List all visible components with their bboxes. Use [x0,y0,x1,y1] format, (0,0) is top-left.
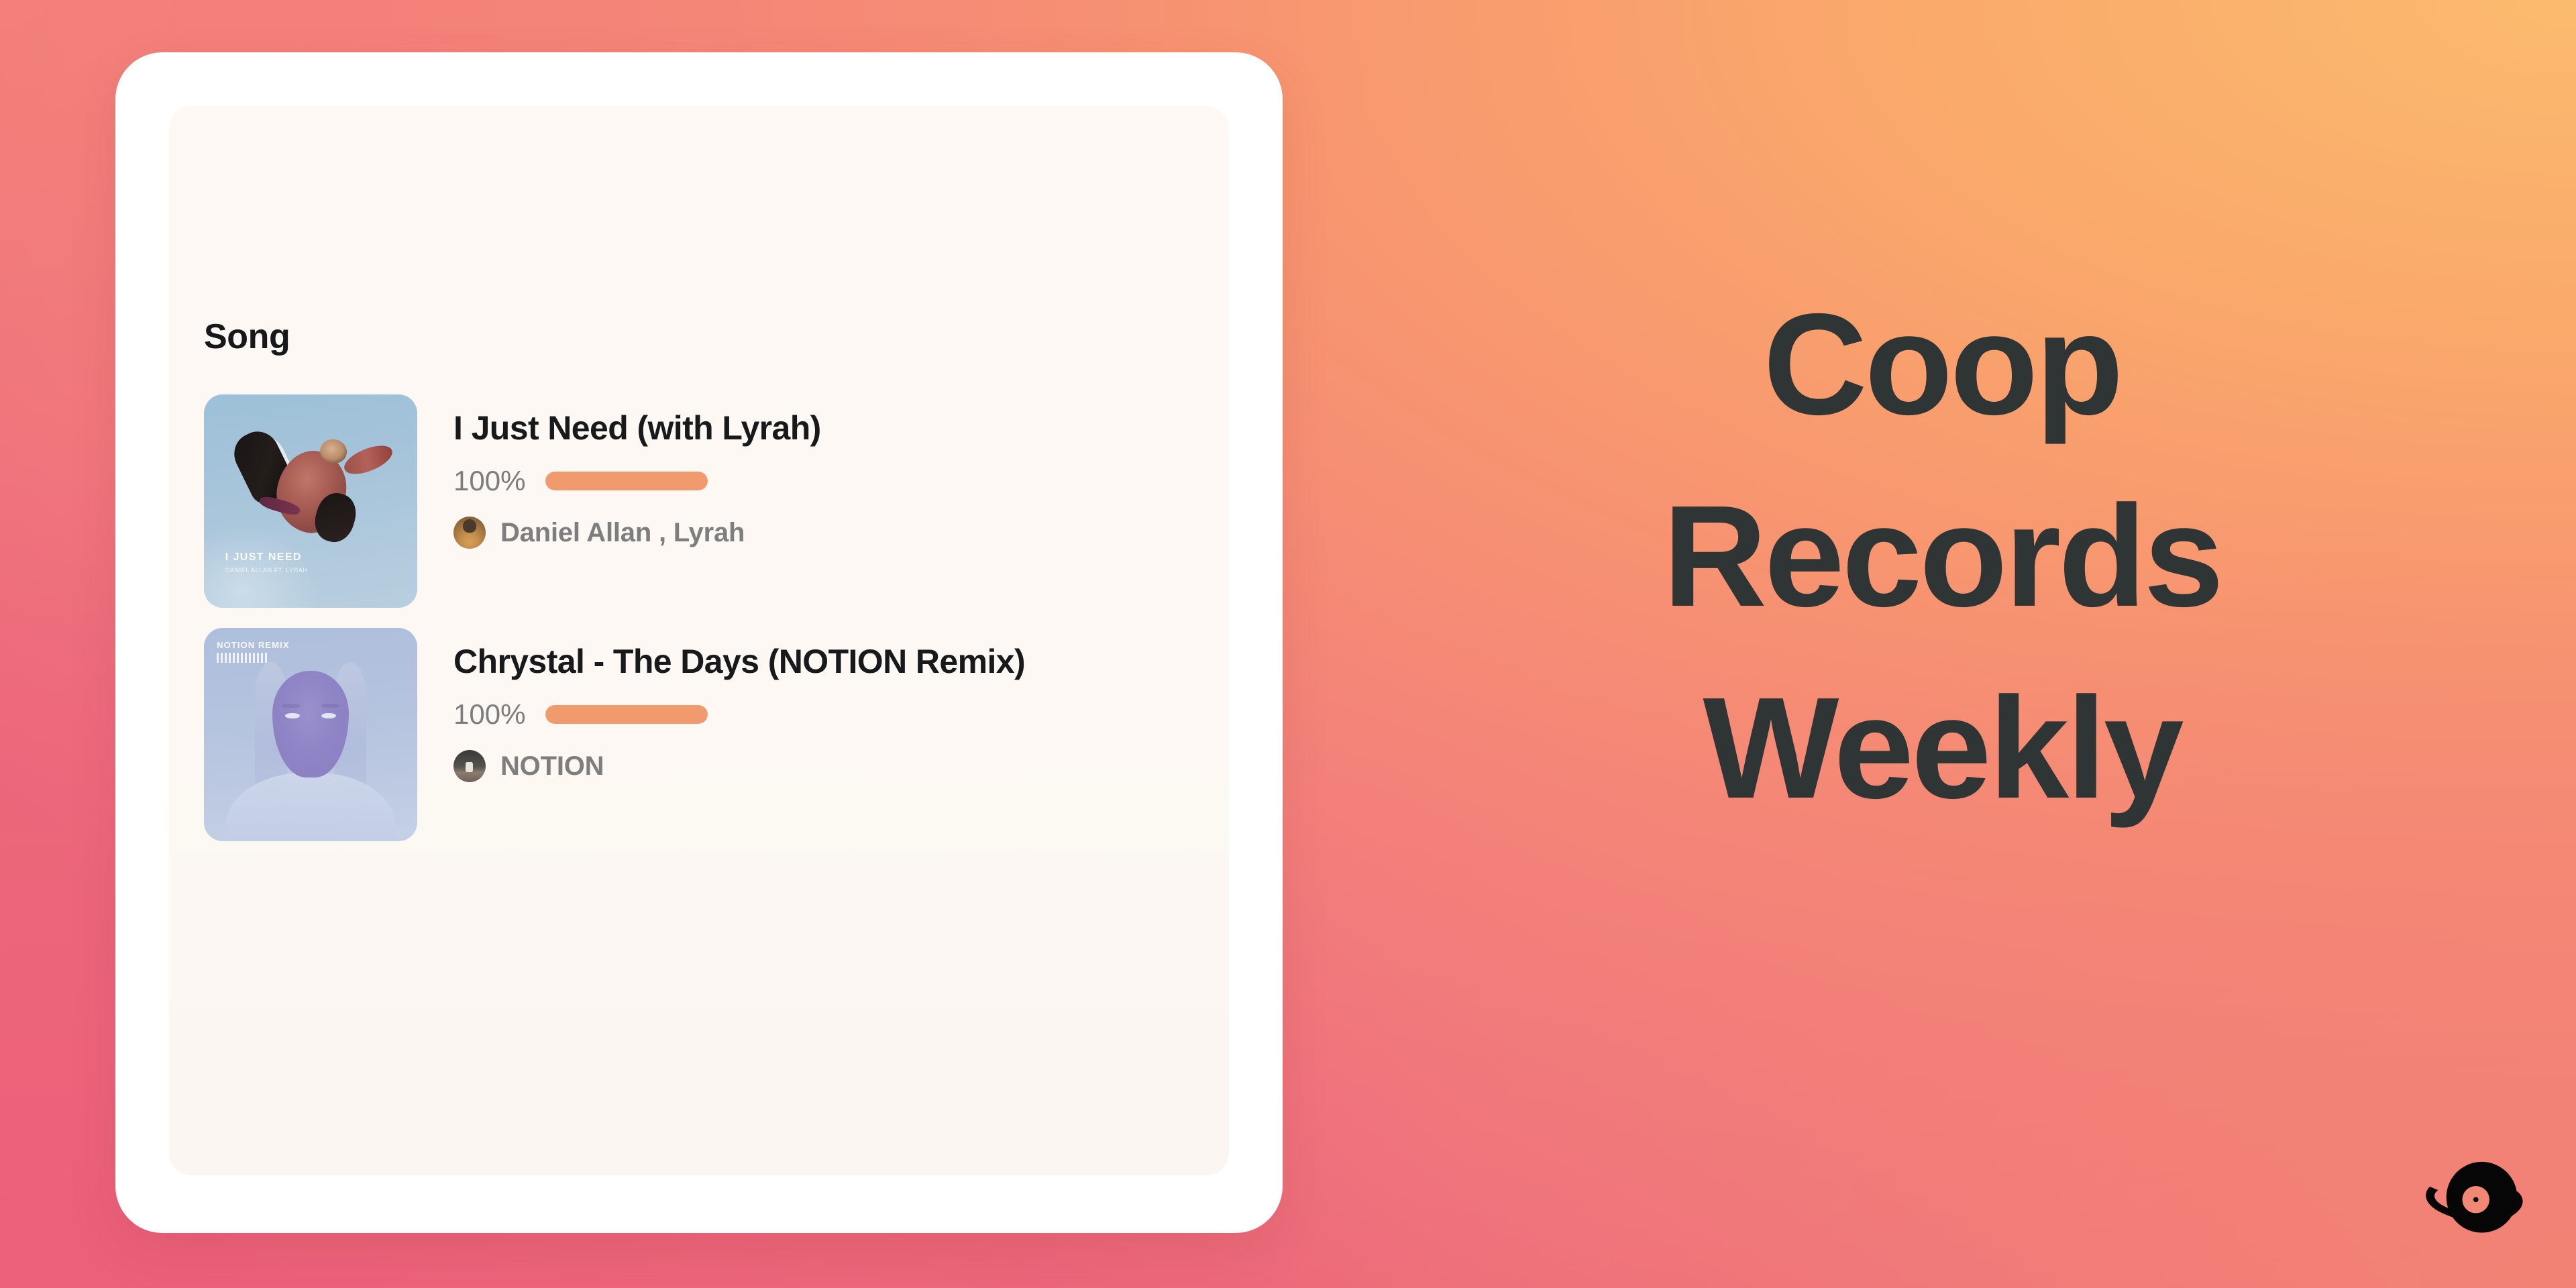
page-title-line-3: Weekly [1536,652,2348,844]
coop-records-planet-vinyl-logo [2420,1142,2538,1260]
skydiver-figure [238,431,388,541]
album-art-caption-title: I JUST NEED [225,551,302,563]
song-progress-track [545,472,708,490]
portrait-face [272,671,349,777]
song-progress-fill [545,472,708,490]
album-art-caption-subtitle: DANIEL ALLAN FT. LYRAH [225,566,308,574]
song-title[interactable]: I Just Need (with Lyrah) [453,409,1194,447]
album-art-i-just-need: I JUST NEED DANIEL ALLAN FT. LYRAH [204,394,417,608]
album-art-caption: NOTION REMIX [217,639,290,651]
playlist-panel: Song I JUST NEED DANIEL ALLAN FT. L [169,106,1229,1175]
song-progress-track [545,705,708,724]
page-title: Coop Records Weekly [1536,268,2348,844]
song-artist-line[interactable]: NOTION [453,750,1194,782]
album-art-the-days-notion-remix: NOTION REMIX [204,628,417,841]
song-artist-name[interactable]: NOTION [500,753,604,780]
portrait-brow-left [282,704,300,708]
portrait-shoulders [225,773,396,841]
song-list-item[interactable]: I JUST NEED DANIEL ALLAN FT. LYRAH I Jus… [204,394,1194,628]
song-progress-fill [545,705,708,724]
artist-avatar-notion [453,750,486,782]
album-art-barcode [217,653,268,663]
song-list-item[interactable]: NOTION REMIX Chrystal - The Days (NOTION… [204,628,1194,861]
song-title[interactable]: Chrystal - The Days (NOTION Remix) [453,643,1194,680]
song-artist-line[interactable]: Daniel Allan , Lyrah [453,517,1194,549]
album-art-caption: I JUST NEED DANIEL ALLAN FT. LYRAH [225,535,308,588]
song-percent-label: 100% [453,700,525,729]
song-meta: Chrystal - The Days (NOTION Remix) 100% … [453,628,1194,782]
song-percent-label: 100% [453,467,525,495]
song-artist-name[interactable]: Daniel Allan , Lyrah [500,519,745,546]
page-title-line-1: Coop [1536,268,2348,460]
song-section-header: Song [169,319,1229,354]
portrait-brow-right [321,704,339,708]
song-list: I JUST NEED DANIEL ALLAN FT. LYRAH I Jus… [169,394,1229,861]
page-title-line-2: Records [1536,460,2348,652]
song-progress-line: 100% [453,700,1194,729]
figure-arm-shape [340,440,396,480]
panel-top-spacer [169,106,1229,319]
playlist-card: Song I JUST NEED DANIEL ALLAN FT. L [115,52,1283,1233]
song-progress-line: 100% [453,467,1194,495]
artist-avatar-daniel-allan [453,517,486,549]
song-meta: I Just Need (with Lyrah) 100% Daniel All… [453,394,1194,549]
